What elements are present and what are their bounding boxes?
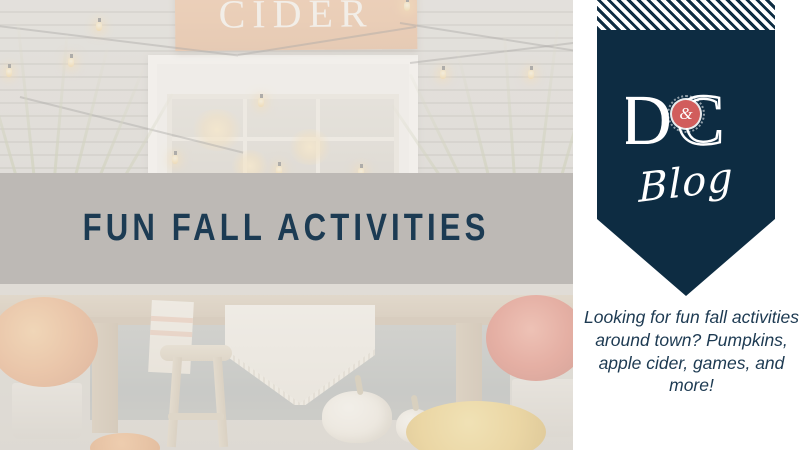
photo-collage: CIDER — [0, 0, 573, 450]
string-light-bulb — [96, 22, 102, 31]
string-light-bulb — [172, 155, 178, 164]
string-light-bulb — [258, 98, 264, 107]
porch-window — [148, 55, 418, 185]
sidebar-caption: Looking for fun fall activities around t… — [581, 306, 802, 397]
graphic-canvas: CIDER — [0, 0, 810, 450]
diagonal-stripe-header — [597, 0, 775, 30]
top-photo-porch: CIDER — [0, 0, 573, 185]
title-band: FUN FALL ACTIVITIES — [0, 173, 573, 284]
ampersand-glyph: & — [679, 104, 692, 124]
window-glass — [167, 94, 399, 185]
galvanized-bucket — [12, 383, 82, 439]
ampersand-badge: & — [672, 100, 700, 128]
sidebar-panel: D C & Blog Looking for fun fall activiti… — [573, 0, 810, 450]
string-light-bulb — [528, 70, 534, 79]
striped-towel — [148, 300, 194, 374]
string-light-bulb — [404, 2, 410, 11]
white-pumpkin-large — [322, 391, 392, 443]
string-light-bulb — [68, 58, 74, 67]
string-light-bulb — [6, 68, 12, 77]
stool-rung — [168, 413, 224, 420]
cider-sign: CIDER — [175, 0, 418, 51]
orange-mums-left — [0, 297, 98, 387]
svg-text:D: D — [626, 82, 672, 160]
string-light-bulb — [440, 70, 446, 79]
cider-sign-text: CIDER — [175, 0, 417, 35]
dc-monogram-logo: D C & — [597, 82, 775, 160]
page-title: FUN FALL ACTIVITIES — [83, 207, 490, 250]
bottom-photo-table — [0, 283, 573, 450]
